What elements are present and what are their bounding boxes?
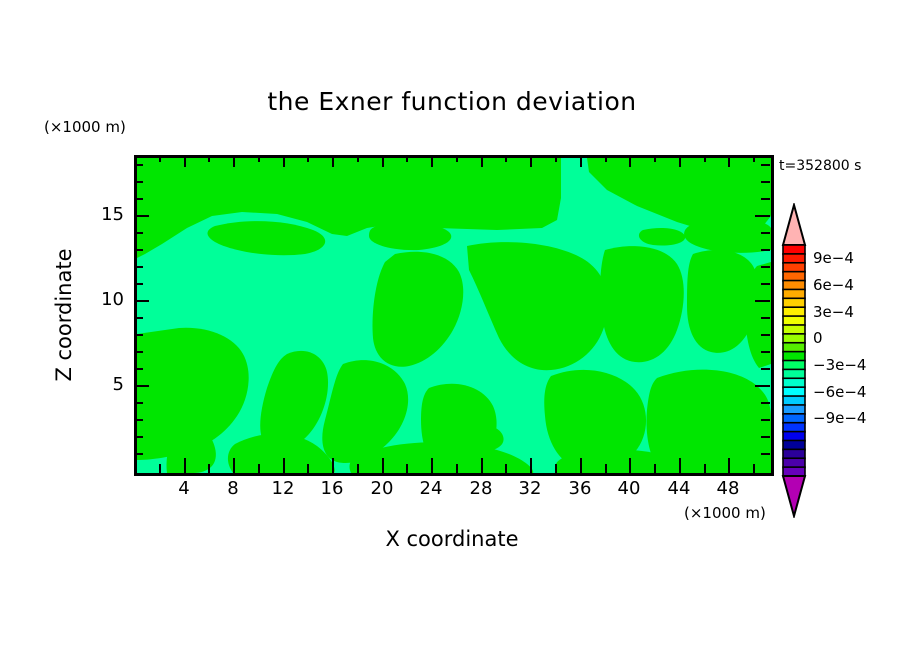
- y-minor-tick-right: [761, 402, 770, 404]
- x-major-tick: [629, 458, 631, 473]
- colorbar-segment: [783, 432, 805, 441]
- y-major-tick-right: [755, 385, 770, 387]
- y-tick-label: 15: [68, 204, 124, 225]
- y-minor-tick-right: [761, 181, 770, 183]
- x-major-tick: [728, 458, 730, 473]
- colorbar-segment: [783, 369, 805, 378]
- x-minor-tick: [704, 464, 706, 473]
- y-tick-label: 5: [68, 374, 124, 395]
- x-major-tick: [580, 458, 582, 473]
- y-minor-tick-right: [761, 334, 770, 336]
- x-major-tick-top: [382, 155, 384, 167]
- y-minor-tick-right: [761, 232, 770, 234]
- x-major-tick-top: [332, 155, 334, 167]
- y-minor-tick: [134, 198, 143, 200]
- colorbar-tick-label: −3e−4: [813, 356, 866, 374]
- colorbar-segment: [783, 387, 805, 396]
- colorbar-segment: [783, 414, 805, 423]
- colorbar-segment: [783, 361, 805, 370]
- x-minor-tick-top: [505, 155, 507, 162]
- colorbar-segment: [783, 352, 805, 361]
- x-minor-tick-top: [555, 155, 557, 162]
- colorbar-tick-label: 0: [813, 329, 823, 347]
- x-major-tick: [332, 458, 334, 473]
- y-major-tick: [134, 300, 149, 302]
- x-major-tick: [184, 458, 186, 473]
- x-axis-units-label: (×1000 m): [684, 504, 766, 522]
- x-minor-tick: [307, 464, 309, 473]
- colorbar-segment: [783, 458, 805, 467]
- y-minor-tick: [134, 266, 143, 268]
- y-axis-units-label: (×1000 m): [44, 118, 126, 136]
- x-major-tick: [431, 458, 433, 473]
- x-major-tick-top: [184, 155, 186, 167]
- colorbar-under-arrow: [783, 476, 805, 516]
- x-minor-tick-top: [654, 155, 656, 162]
- colorbar-segment: [783, 254, 805, 263]
- colorbar-scale: [780, 203, 808, 518]
- x-major-tick-top: [481, 155, 483, 167]
- colorbar-segment: [783, 298, 805, 307]
- y-minor-tick: [134, 334, 143, 336]
- y-minor-tick-right: [761, 198, 770, 200]
- x-minor-tick: [208, 464, 210, 473]
- x-minor-tick-top: [258, 155, 260, 162]
- y-minor-tick-right: [761, 164, 770, 166]
- x-minor-tick: [406, 464, 408, 473]
- y-minor-tick-right: [761, 283, 770, 285]
- x-major-tick: [530, 458, 532, 473]
- colorbar-tick-label: −6e−4: [813, 383, 866, 401]
- y-major-tick-right: [755, 215, 770, 217]
- y-minor-tick: [134, 351, 143, 353]
- colorbar-segment: [783, 343, 805, 352]
- colorbar-segment: [783, 272, 805, 281]
- y-minor-tick: [134, 317, 143, 319]
- page-title: the Exner function deviation: [0, 87, 904, 116]
- x-major-tick-top: [530, 155, 532, 167]
- x-minor-tick-top: [406, 155, 408, 162]
- contour-field: [137, 158, 771, 473]
- colorbar-segment: [783, 440, 805, 449]
- colorbar-over-arrow: [783, 205, 805, 245]
- contour-plot-area: [134, 155, 774, 476]
- timestamp-annotation: t=352800 s: [779, 158, 861, 174]
- x-major-tick-top: [580, 155, 582, 167]
- y-minor-tick: [134, 181, 143, 183]
- x-major-tick: [679, 458, 681, 473]
- colorbar-segment: [783, 289, 805, 298]
- colorbar-segment: [783, 334, 805, 343]
- colorbar-tick-label: 9e−4: [813, 249, 854, 267]
- y-minor-tick: [134, 249, 143, 251]
- y-minor-tick: [134, 164, 143, 166]
- y-minor-tick: [134, 402, 143, 404]
- colorbar-segment: [783, 405, 805, 414]
- colorbar-segment: [783, 378, 805, 387]
- x-minor-tick: [159, 464, 161, 473]
- x-major-tick: [382, 458, 384, 473]
- x-minor-tick-top: [456, 155, 458, 162]
- colorbar-segment: [783, 307, 805, 316]
- colorbar-segment: [783, 245, 805, 254]
- colorbar-segment: [783, 396, 805, 405]
- y-minor-tick: [134, 368, 143, 370]
- colorbar: [780, 203, 808, 518]
- x-axis-title: X coordinate: [0, 527, 904, 551]
- x-major-tick: [481, 458, 483, 473]
- x-minor-tick-top: [605, 155, 607, 162]
- y-minor-tick-right: [761, 249, 770, 251]
- x-minor-tick: [605, 464, 607, 473]
- x-minor-tick-top: [753, 155, 755, 162]
- y-minor-tick-right: [761, 436, 770, 438]
- x-minor-tick-top: [357, 155, 359, 162]
- y-minor-tick-right: [761, 419, 770, 421]
- colorbar-segment: [783, 325, 805, 334]
- colorbar-segment: [783, 281, 805, 290]
- y-major-tick: [134, 385, 149, 387]
- x-major-tick-top: [233, 155, 235, 167]
- x-major-tick: [283, 458, 285, 473]
- x-major-tick-top: [728, 155, 730, 167]
- colorbar-segment: [783, 423, 805, 432]
- y-major-tick-right: [755, 300, 770, 302]
- x-minor-tick: [654, 464, 656, 473]
- x-minor-tick: [555, 464, 557, 473]
- colorbar-segment: [783, 263, 805, 272]
- x-major-tick-top: [679, 155, 681, 167]
- y-tick-label: 10: [68, 289, 124, 310]
- colorbar-tick-label: −9e−4: [813, 409, 866, 427]
- x-minor-tick: [753, 464, 755, 473]
- x-minor-tick-top: [208, 155, 210, 162]
- y-minor-tick-right: [761, 368, 770, 370]
- y-minor-tick-right: [761, 453, 770, 455]
- colorbar-tick-label: 6e−4: [813, 276, 854, 294]
- x-major-tick: [233, 458, 235, 473]
- x-major-tick-top: [629, 155, 631, 167]
- y-minor-tick: [134, 453, 143, 455]
- x-minor-tick-top: [704, 155, 706, 162]
- x-minor-tick: [505, 464, 507, 473]
- x-minor-tick-top: [159, 155, 161, 162]
- x-minor-tick: [258, 464, 260, 473]
- contour-plot-figure: the Exner function deviation (×1000 m) (…: [0, 0, 904, 654]
- y-minor-tick-right: [761, 317, 770, 319]
- y-minor-tick: [134, 283, 143, 285]
- y-minor-tick: [134, 436, 143, 438]
- x-major-tick-top: [283, 155, 285, 167]
- x-minor-tick: [357, 464, 359, 473]
- y-minor-tick-right: [761, 351, 770, 353]
- x-tick-label: 48: [698, 478, 758, 499]
- y-major-tick: [134, 215, 149, 217]
- x-major-tick-top: [431, 155, 433, 167]
- colorbar-segment: [783, 449, 805, 458]
- x-minor-tick: [456, 464, 458, 473]
- colorbar-tick-label: 3e−4: [813, 303, 854, 321]
- y-minor-tick: [134, 232, 143, 234]
- colorbar-segment: [783, 316, 805, 325]
- y-minor-tick: [134, 419, 143, 421]
- y-minor-tick-right: [761, 266, 770, 268]
- x-minor-tick-top: [307, 155, 309, 162]
